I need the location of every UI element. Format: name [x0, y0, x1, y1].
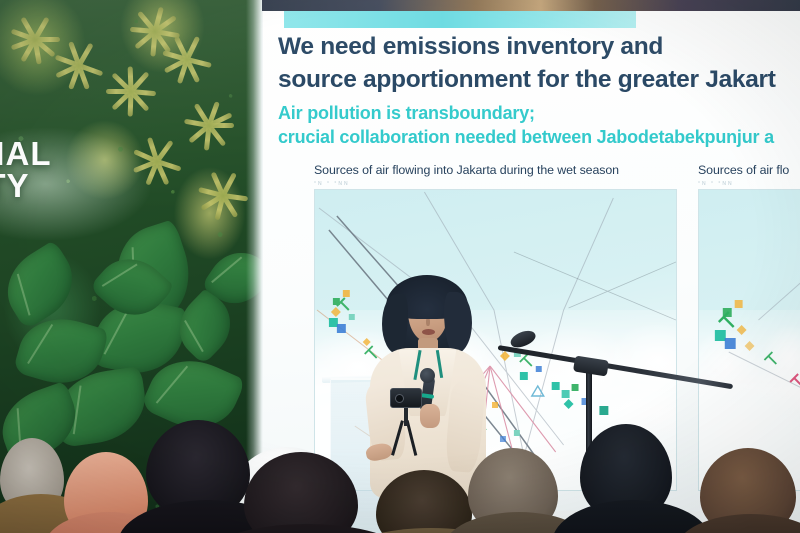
signage-line-1: ONAL	[0, 138, 114, 170]
slide-title-line-1: We need emissions inventory and	[278, 31, 800, 64]
slide-subtitle-line-1: Air pollution is transboundary;	[278, 102, 800, 125]
chart-caption-2: Sources of air flo	[698, 163, 800, 177]
screenshot-root: We need emissions inventory and source a…	[0, 0, 800, 533]
slide-title-block: We need emissions inventory and source a…	[278, 31, 800, 149]
slide-title-line-2: source apportionment for the greater Jak…	[278, 64, 800, 97]
presenter-nose	[426, 318, 430, 326]
signage-line-2: LITY	[0, 170, 114, 202]
presenter-hair-right	[444, 292, 472, 354]
map-plot-2	[698, 189, 800, 491]
slide-accent-bar	[284, 11, 636, 28]
handheld-microphone-head	[420, 368, 435, 383]
smartphone-on-tripod	[390, 388, 422, 408]
presenter-hand-holding-mic	[420, 404, 440, 428]
chart-axis-label-2: °N ° °NN	[698, 181, 800, 189]
chart-caption-1: Sources of air flowing into Jakarta duri…	[314, 163, 677, 177]
chart-axis-label-1: °N ° °NN	[314, 181, 677, 189]
slide-subtitle-line-2: crucial collaboration needed between Jab…	[278, 126, 800, 149]
map-overlay-2	[699, 190, 800, 490]
phone-camera-icon	[395, 394, 404, 403]
chart-panel-second: Sources of air flo °N ° °NN	[698, 163, 800, 491]
presenter-mouth	[422, 329, 435, 335]
green-wall-signage: ONAL LITY	[0, 138, 114, 203]
